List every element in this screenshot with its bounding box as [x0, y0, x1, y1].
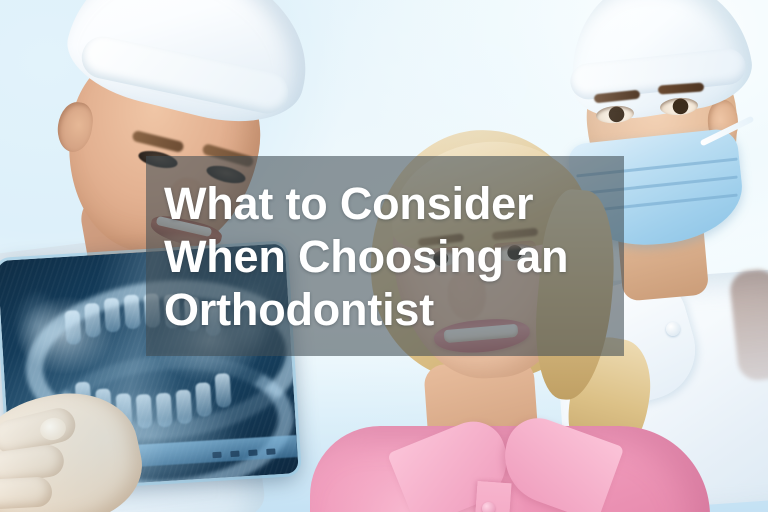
page-title: What to Consider When Choosing an Orthod…: [146, 177, 568, 336]
hero-banner-image: What to Consider When Choosing an Orthod…: [0, 0, 768, 512]
hand-finger: [0, 476, 53, 509]
title-overlay-panel: What to Consider When Choosing an Orthod…: [146, 156, 624, 356]
shirt-button: [482, 502, 495, 512]
